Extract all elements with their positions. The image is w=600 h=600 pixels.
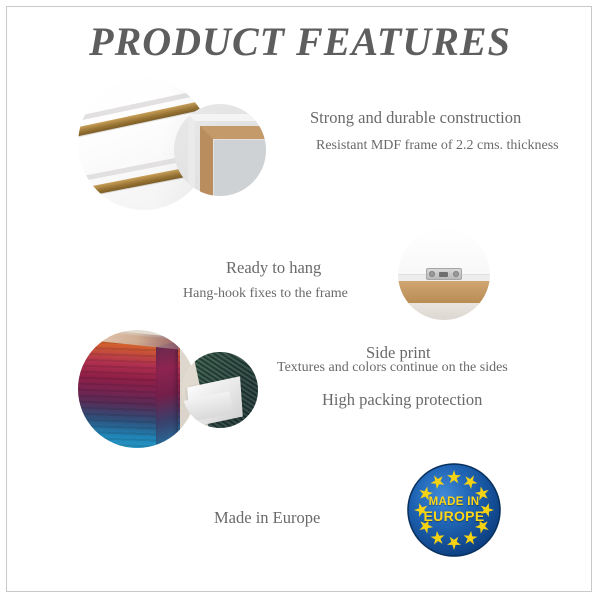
hook-screw-left xyxy=(429,271,435,277)
hang-hook-bracket xyxy=(426,268,463,280)
feature-heading-made-in-europe: Made in Europe xyxy=(214,508,320,528)
side-print-photo xyxy=(78,330,196,448)
feature-heading-durable-construction: Strong and durable construction xyxy=(310,108,521,128)
feature-detail-side-print: Textures and colors continue on the side… xyxy=(277,360,508,376)
frame-corner-canvas xyxy=(214,140,266,196)
infographic-canvas: PRODUCT FEATURES Strong and durable cons… xyxy=(0,0,600,600)
frame-corner-photo xyxy=(174,104,266,196)
hang-hook-photo xyxy=(398,228,490,320)
hook-slot xyxy=(439,272,448,277)
feature-heading-ready-to-hang: Ready to hang xyxy=(226,258,321,278)
feature-detail-durable-construction: Resistant MDF frame of 2.2 cms. thicknes… xyxy=(316,138,559,154)
feature-heading-packing-protection: High packing protection xyxy=(322,390,482,410)
hook-screw-right xyxy=(453,271,459,277)
hook-wood-strip xyxy=(398,281,490,305)
hook-surface xyxy=(398,303,490,320)
canvas-side-edge xyxy=(156,341,178,448)
packing-protection-photo xyxy=(182,352,258,428)
page-title: PRODUCT FEATURES xyxy=(0,18,600,65)
made-in-europe-badge: MADE IN EUROPE xyxy=(405,461,503,559)
feature-detail-ready-to-hang: Hang-hook fixes to the frame xyxy=(183,286,348,302)
